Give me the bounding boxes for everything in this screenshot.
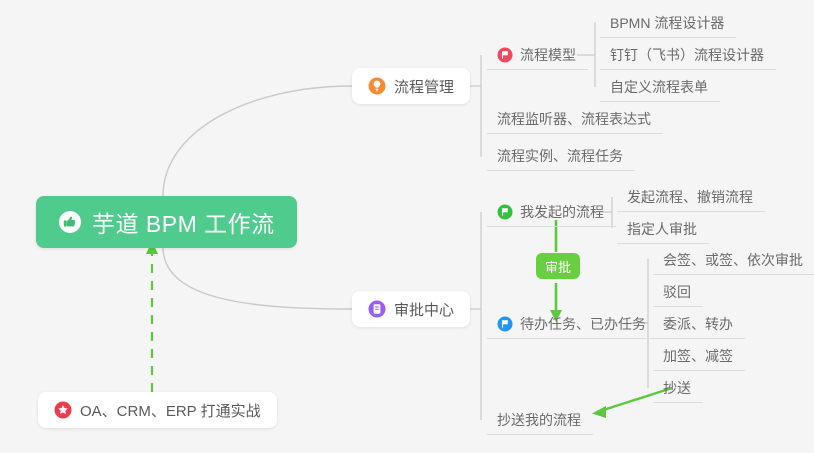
root-label: 芋道 BPM 工作流 (92, 205, 275, 239)
doc-purple-icon (368, 300, 386, 318)
node-add-remove-sign[interactable]: 加签、减签 (653, 341, 745, 371)
label-process-instance: 流程实例、流程任务 (497, 146, 623, 166)
branch-node-process-management[interactable]: 流程管理 (352, 68, 470, 104)
node-counter-or-sequential-sign[interactable]: 会签、或签、依次审批 (653, 245, 814, 275)
node-my-initiated[interactable]: 我发起的流程 (487, 197, 616, 227)
label-process-model: 流程模型 (520, 45, 576, 65)
label-cc: 抄送 (663, 378, 691, 398)
label-bpmn-designer: BPMN 流程设计器 (610, 13, 724, 33)
node-reject[interactable]: 驳回 (653, 277, 703, 307)
annotation-approval-badge-label: 审批 (545, 257, 571, 276)
label-custom-process-form: 自定义流程表单 (610, 77, 708, 97)
label-add-remove-sign: 加签、减签 (663, 346, 733, 366)
node-cc[interactable]: 抄送 (653, 373, 703, 403)
node-process-instance[interactable]: 流程实例、流程任务 (487, 141, 635, 171)
label-delegate-transfer: 委派、转办 (663, 314, 733, 334)
flag-blue-icon (497, 316, 513, 332)
label-start-cancel-process: 发起流程、撤销流程 (627, 187, 753, 207)
node-todo-done-tasks[interactable]: 待办任务、已办任务 (487, 309, 658, 339)
label-process-listener: 流程监听器、流程表达式 (497, 109, 651, 129)
node-delegate-transfer[interactable]: 委派、转办 (653, 309, 745, 339)
label-reject: 驳回 (663, 282, 691, 302)
label-todo-done-tasks: 待办任务、已办任务 (520, 314, 646, 334)
star-icon (54, 401, 72, 419)
label-dingtalk-feishu-designer: 钉钉（飞书）流程设计器 (610, 45, 764, 65)
footnote-node[interactable]: OA、CRM、ERP 打通实战 (38, 392, 277, 428)
annotation-approval-badge: 审批 (536, 253, 580, 279)
branch-label-approval-center: 审批中心 (394, 299, 454, 320)
flag-red-icon (497, 47, 513, 63)
root-node[interactable]: 芋道 BPM 工作流 (36, 196, 297, 248)
label-cc-to-me: 抄送我的流程 (497, 410, 581, 430)
label-assignee-approval: 指定人审批 (627, 219, 697, 239)
branch-label-process-management: 流程管理 (394, 76, 454, 97)
flag-green-icon (497, 204, 513, 220)
arrow-cc-link-head (592, 406, 606, 418)
label-counter-or-sequential-sign: 会签、或签、依次审批 (663, 250, 803, 270)
node-bpmn-designer[interactable]: BPMN 流程设计器 (600, 8, 736, 38)
node-process-model[interactable]: 流程模型 (487, 40, 588, 70)
branch-node-approval-center[interactable]: 审批中心 (352, 291, 470, 327)
footnote-label: OA、CRM、ERP 打通实战 (80, 400, 261, 421)
node-dingtalk-feishu-designer[interactable]: 钉钉（飞书）流程设计器 (600, 40, 776, 70)
wire-root-to-process-management (163, 86, 352, 196)
label-my-initiated: 我发起的流程 (520, 202, 604, 222)
node-cc-to-me[interactable]: 抄送我的流程 (487, 405, 593, 435)
mindmap-canvas: 芋道 BPM 工作流 流程管理 流程模型 BPMN 流程设计器 钉钉（飞书）流 (0, 0, 814, 453)
node-custom-process-form[interactable]: 自定义流程表单 (600, 72, 720, 102)
thumbs-up-icon (58, 210, 82, 234)
lightbulb-icon (368, 77, 386, 95)
node-assignee-approval[interactable]: 指定人审批 (617, 214, 709, 244)
node-process-listener[interactable]: 流程监听器、流程表达式 (487, 104, 663, 134)
wire-root-to-approval-center (163, 247, 352, 309)
node-start-cancel-process[interactable]: 发起流程、撤销流程 (617, 182, 765, 212)
